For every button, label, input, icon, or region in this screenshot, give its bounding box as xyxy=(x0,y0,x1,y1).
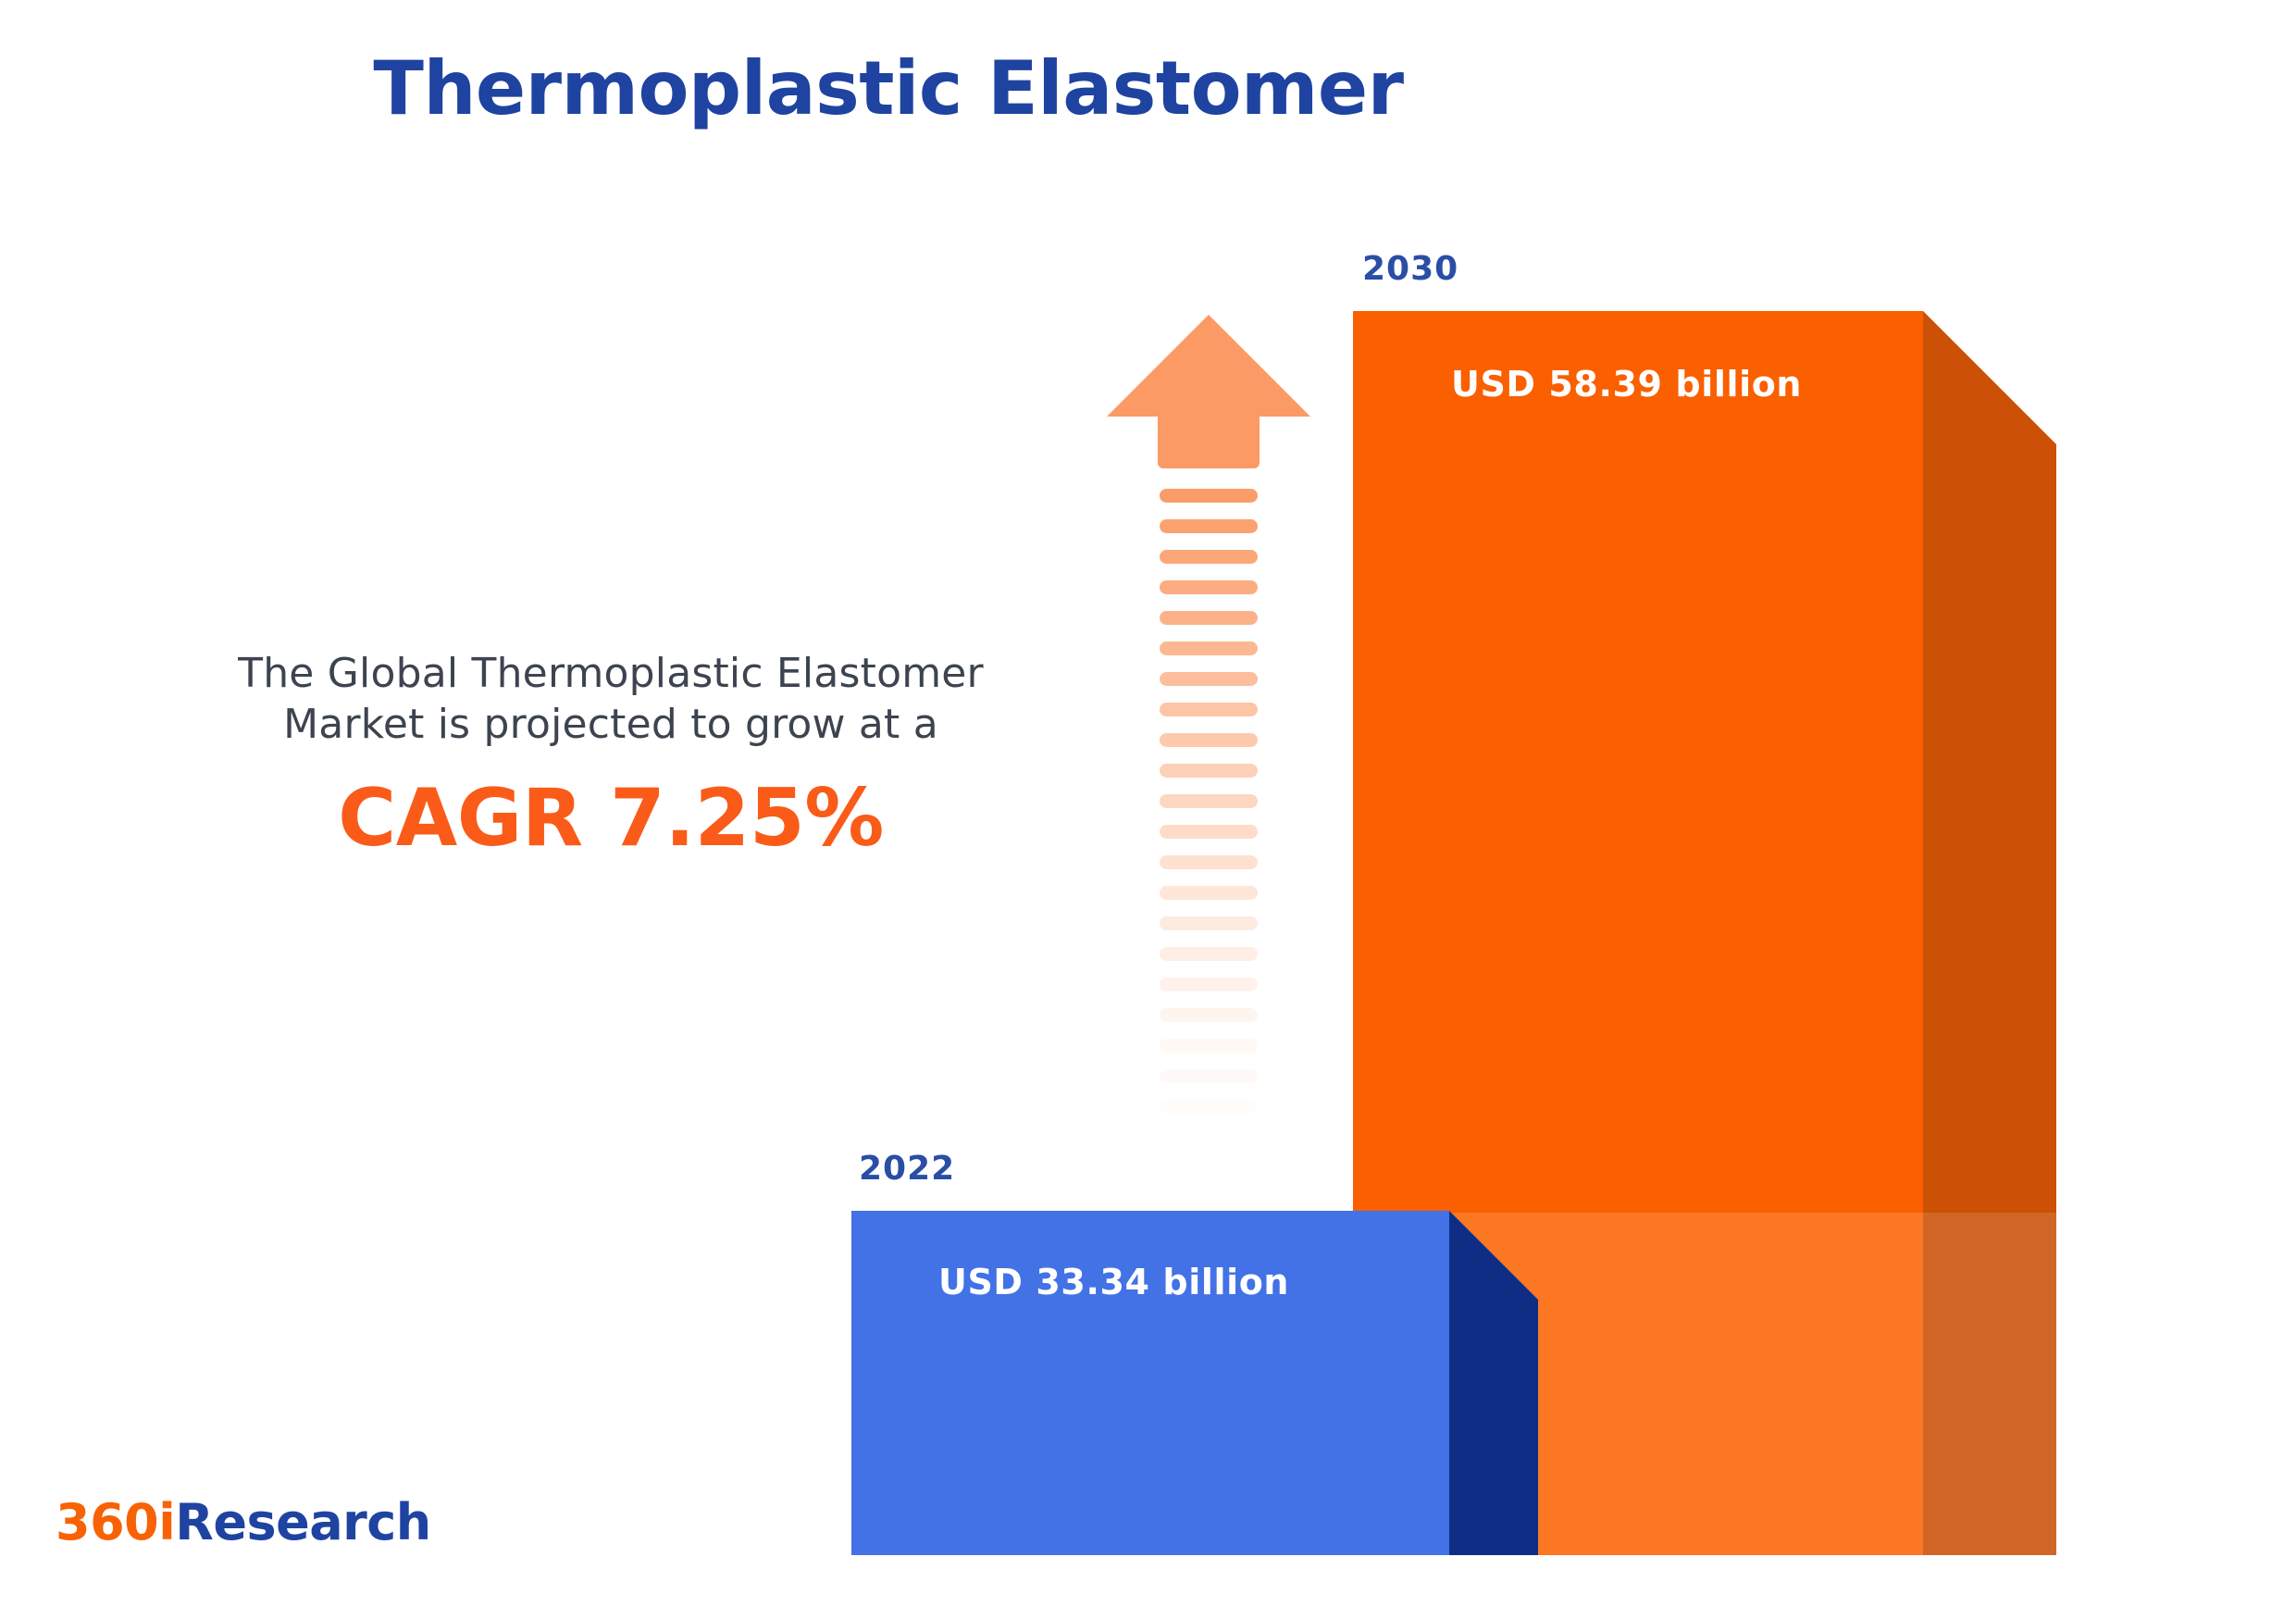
bar-2030-value-label: USD 58.39 billion xyxy=(1451,364,1802,405)
bar-2022-value-label: USD 33.34 billion xyxy=(938,1262,1289,1302)
bar-2030-year-label: 2030 xyxy=(1362,250,1458,288)
brand-logo-prefix: 360i xyxy=(56,1493,175,1551)
bar-chart: 2030 USD 58.39 billion 2022 USD 33.34 bi… xyxy=(0,0,2296,1619)
bar-2022-side-top-bevel xyxy=(1449,1211,1538,1300)
bar-2022-side-face xyxy=(1449,1300,1538,1555)
bar-2030-side-overlap xyxy=(1923,1213,2056,1555)
brand-logo-suffix: Research xyxy=(175,1493,431,1551)
infographic-canvas: Thermoplastic Elastomer The Global Therm… xyxy=(0,0,2296,1619)
bar-2022-year-label: 2022 xyxy=(859,1150,955,1188)
brand-logo: 360iResearch xyxy=(56,1493,431,1551)
bar-2030-side-top-bevel xyxy=(1923,311,2056,444)
